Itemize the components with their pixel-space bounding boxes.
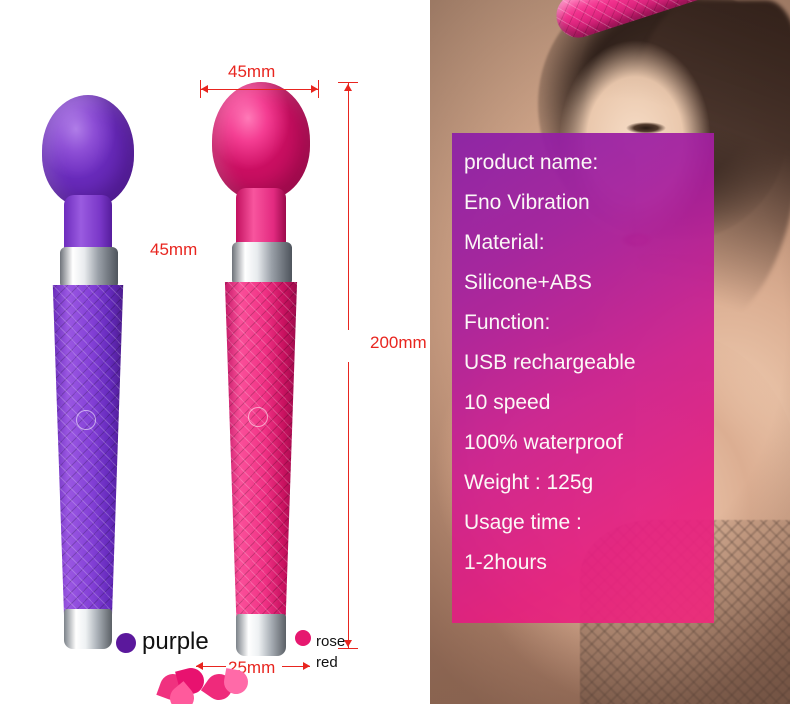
color-label-purple: purple [142,628,209,656]
spec-line-usage-time-value: 1-2hours [464,543,714,583]
spec-line-product-name-value: Eno Vibration [464,183,714,223]
dimension-arrow-bottom-total-length [344,640,352,647]
wand-rose-power-button-icon [248,407,268,427]
spec-line-function-value-speed: 10 speed [464,383,714,423]
color-label-rose: rose [316,633,345,650]
wand-purple-power-button-icon [76,410,96,430]
color-swatch-rose-red [295,630,311,646]
spec-line-product-name: product name: [464,143,714,183]
spec-line-function-value-usb: USB rechargeable [464,343,714,383]
wand-purple-head [42,95,134,207]
spec-line-weight: Weight : 125g [464,463,714,503]
dimension-arrow-left-head-width [201,85,208,93]
color-swatch-purple [116,633,136,653]
dimension-arrow-top-total-length [344,84,352,91]
wand-purple-chrome-ring [60,247,118,289]
wand-rose-chrome-base [236,614,286,656]
spec-line-material-value: Silicone+ABS [464,263,714,303]
spec-line-material: Material: [464,223,714,263]
wand-purple-chrome-base [64,609,112,649]
dimension-arrow-right-base-width [303,662,310,670]
spec-line-function: Function: [464,303,714,343]
wand-rose-head [212,82,310,200]
dimension-line-total-length-lower [348,362,349,648]
product-spec-card: product name: Eno Vibration Material: Si… [452,133,714,623]
dimension-tick-right-head-width [318,80,319,98]
dimension-label-head-width: 45mm [228,62,275,82]
dimension-arrow-right-head-width [311,85,318,93]
product-infographic: product name: Eno Vibration Material: Si… [0,0,790,704]
dimension-label-head-diameter: 45mm [150,240,197,260]
dimension-line-total-length-upper [348,82,349,330]
dimension-line-head-width [200,89,318,90]
wand-rose-neck [236,188,286,248]
wand-rose-texture [220,282,302,620]
wand-purple-neck [64,195,112,253]
color-label-red: red [316,654,338,671]
spec-line-usage-time: Usage time : [464,503,714,543]
wand-rose-chrome-ring [232,242,292,286]
product-wand-rose-red [190,82,325,657]
wand-purple-texture [48,285,128,615]
spec-line-waterproof: 100% waterproof [464,423,714,463]
product-wand-purple [20,95,150,655]
dimension-label-total-length: 200mm [370,333,427,353]
